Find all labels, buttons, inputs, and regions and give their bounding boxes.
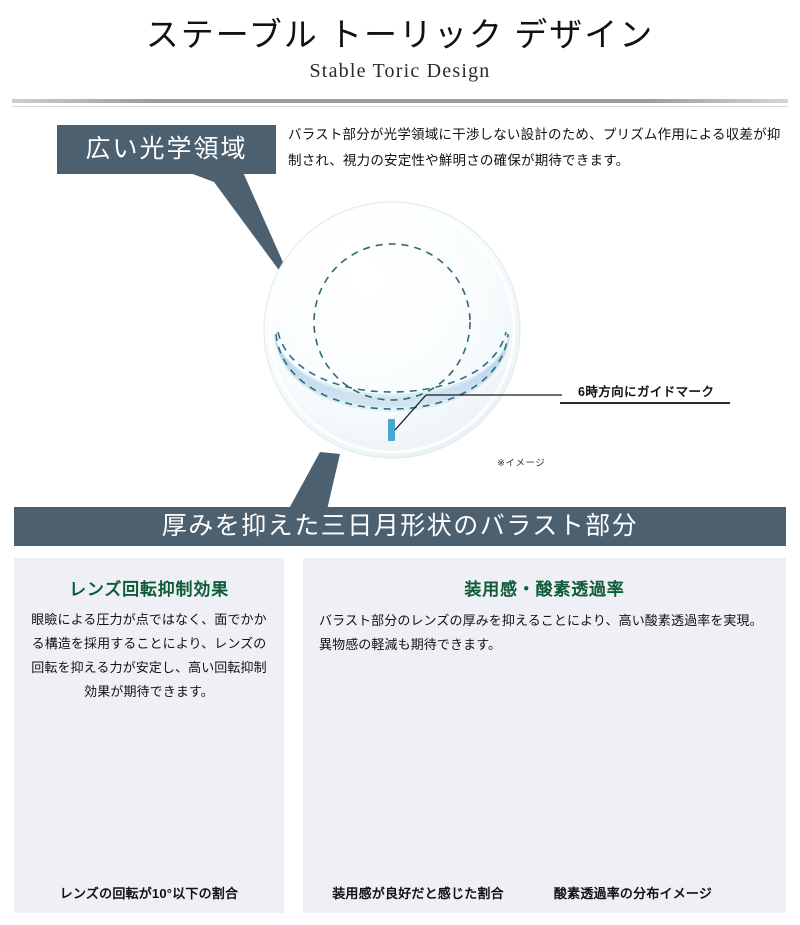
optical-zone-label: 広い光学領域 xyxy=(57,125,276,174)
toric-lens-illustration xyxy=(222,182,562,482)
right-panel-heading: 装用感・酸素透過率 xyxy=(303,575,786,600)
header-divider-thick xyxy=(12,99,788,103)
page-title-japanese: ステーブル トーリック デザイン xyxy=(0,8,800,56)
panel-comfort-oxygen: 装用感・酸素透過率 バラスト部分のレンズの厚みを抑えることにより、高い酸素透過率… xyxy=(303,558,786,913)
guide-mark-underline xyxy=(560,402,730,404)
guide-mark-label: 6時方向にガイドマーク xyxy=(578,381,714,400)
ballast-banner: 厚みを抑えた三日月形状のバラスト部分 xyxy=(14,507,786,546)
heatmap-caption: 酸素透過率の分布イメージ xyxy=(533,883,733,902)
pie-caption: 装用感が良好だと感じた割合 xyxy=(313,883,523,902)
ballast-banner-text: 厚みを抑えた三日月形状のバラスト部分 xyxy=(14,507,786,546)
left-panel-heading: レンズ回転抑制効果 xyxy=(14,575,284,600)
page-title-english: Stable Toric Design xyxy=(0,60,800,83)
header-divider-thin xyxy=(12,106,788,107)
left-panel-caption: レンズの回転が10°以下の割合 xyxy=(14,883,284,902)
right-panel-description: バラスト部分のレンズの厚みを抑えることにより、高い酸素透過率を実現。異物感の軽減… xyxy=(303,609,786,657)
image-disclaimer-note: ※イメージ xyxy=(497,455,545,469)
lens-diagram-icon xyxy=(222,182,562,482)
stable-toric-design-infographic: ステーブル トーリック デザイン Stable Toric Design 広い光… xyxy=(0,0,800,925)
panel-rotation-suppression: レンズ回転抑制効果 眼瞼による圧力が点ではなく、面でかかる構造を採用することによ… xyxy=(14,558,284,913)
optical-zone-description: バラスト部分が光学領域に干渉しない設計のため、プリズム作用による収差が抑制され、… xyxy=(288,122,788,174)
optical-zone-label-box: 広い光学領域 xyxy=(57,125,276,174)
left-panel-description: 眼瞼による圧力が点ではなく、面でかかる構造を採用することにより、レンズの回転を抑… xyxy=(14,608,284,704)
